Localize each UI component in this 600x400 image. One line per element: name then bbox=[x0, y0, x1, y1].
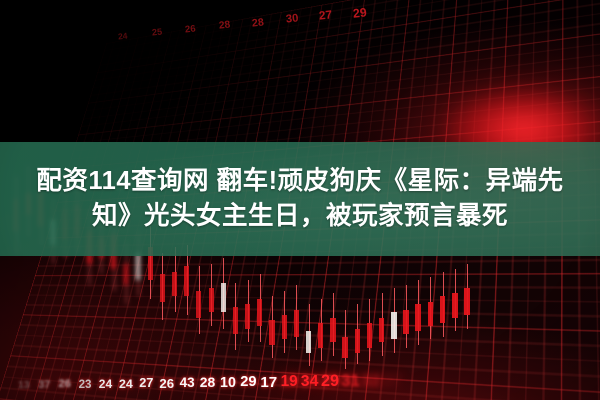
bottom-axis-tick: 28 bbox=[200, 376, 215, 390]
bottom-axis-tick: 37 bbox=[382, 372, 401, 389]
bottom-axis-tick: 17 bbox=[260, 375, 277, 390]
bottom-axis-tick: 23 bbox=[79, 379, 92, 391]
bottom-axis-tick: 37 bbox=[38, 380, 50, 391]
bottom-axis-tick: 31 bbox=[341, 373, 359, 390]
banner-image: 2425262828302729 13372623242427264328102… bbox=[0, 0, 600, 400]
bottom-axis-tick: 27 bbox=[139, 377, 153, 390]
bottom-axis-tick: 43 bbox=[180, 376, 195, 390]
bottom-axis-tick: 29 bbox=[321, 373, 339, 389]
headline-line-2: 知》光头女主生日，被玩家预言暴死 bbox=[92, 203, 508, 231]
bottom-axis-tick: 24 bbox=[99, 378, 112, 390]
bottom-axis-tick: 10 bbox=[220, 376, 236, 390]
bottom-axis-tick: 26 bbox=[58, 379, 71, 390]
bottom-axis-tick: 34 bbox=[301, 374, 319, 390]
headline-banner: 配资114查询网 翻车!顽皮狗庆《星际：异端先 知》光头女主生日，被玩家预言暴死 bbox=[0, 142, 600, 256]
bottom-axis-tick: 13 bbox=[18, 380, 30, 391]
bottom-axis-tick: 32 bbox=[361, 372, 380, 389]
bottom-axis-tick: 19 bbox=[281, 374, 298, 389]
bottom-axis-tick: 26 bbox=[159, 377, 174, 390]
bottom-axis-tick: 29 bbox=[240, 375, 256, 390]
headline-line-1: 配资114查询网 翻车!顽皮狗庆《星际：异端先 bbox=[36, 168, 563, 196]
bottom-axis-tick: 24 bbox=[119, 378, 133, 390]
